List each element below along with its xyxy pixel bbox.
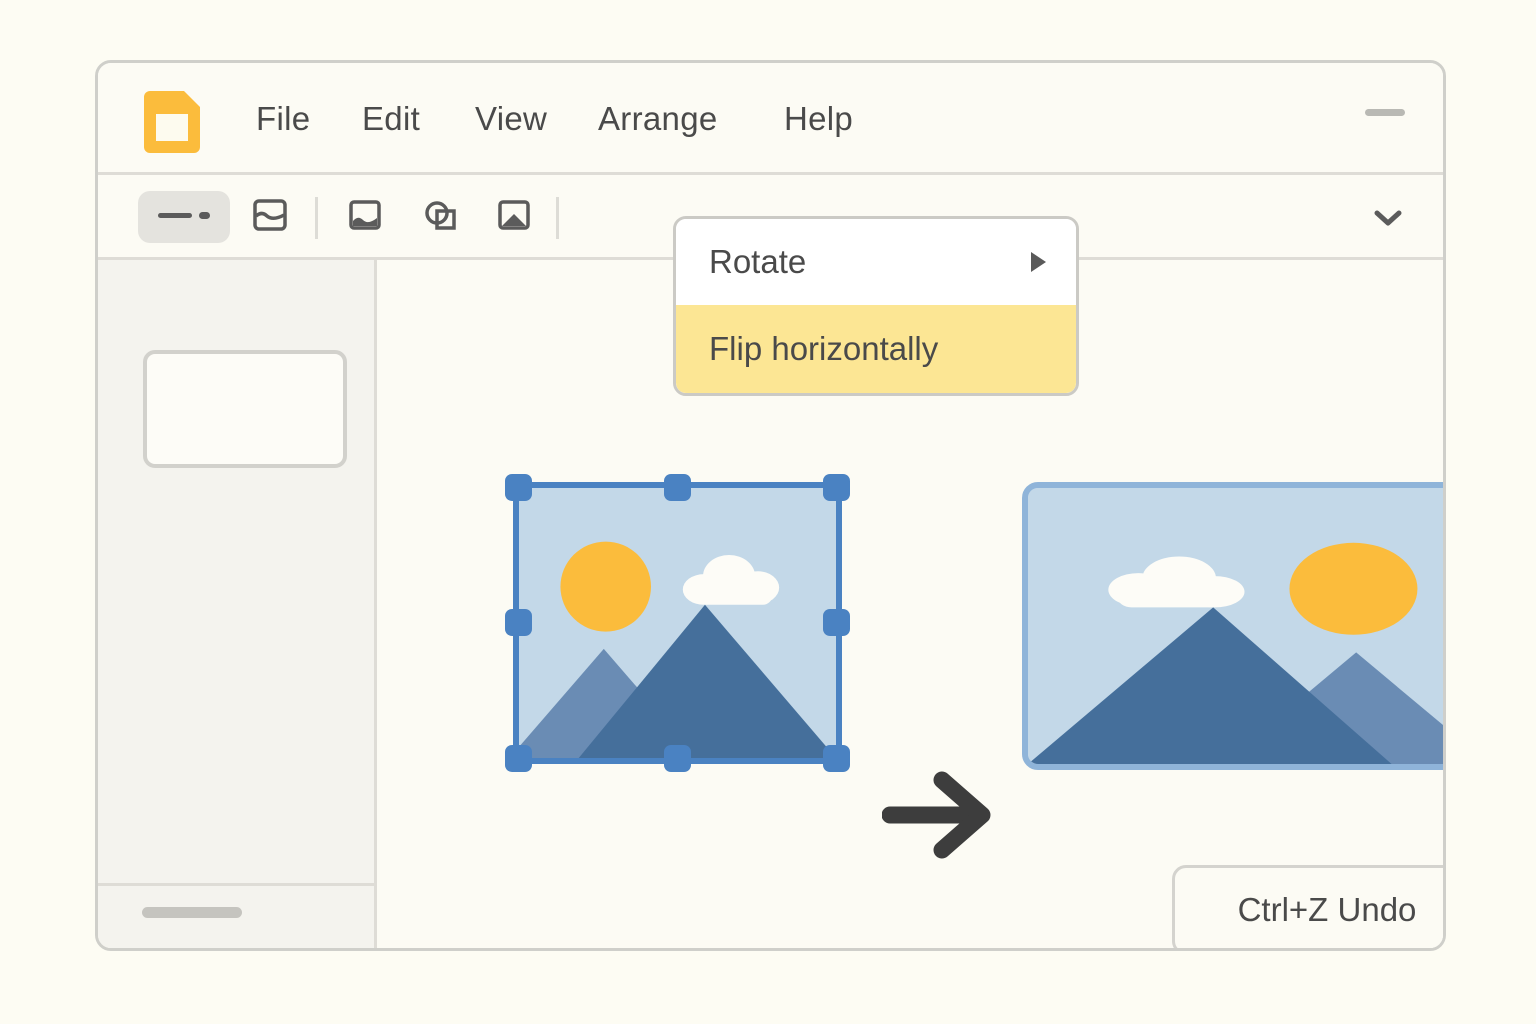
toolbar-divider bbox=[315, 197, 318, 239]
sidebar-footer bbox=[98, 883, 374, 948]
shape-tool-button[interactable] bbox=[414, 191, 466, 243]
chevron-down-icon[interactable] bbox=[1371, 201, 1405, 235]
image-mask-button[interactable] bbox=[488, 191, 540, 243]
menu-help[interactable]: Help bbox=[778, 96, 859, 142]
undo-hint-label: Ctrl+Z Undo bbox=[1238, 891, 1417, 929]
arrange-dropdown-menu: Rotate Flip horizontally bbox=[673, 216, 1079, 396]
slide-sidebar bbox=[98, 260, 377, 948]
caret-right-icon bbox=[1031, 252, 1046, 272]
selection-handle-e[interactable] bbox=[823, 609, 850, 636]
menu-bar: File Edit View Arrange Help bbox=[98, 63, 1443, 175]
line-weight-tool-button[interactable] bbox=[138, 191, 230, 243]
landscape-image-flipped[interactable] bbox=[1022, 482, 1446, 770]
layout-icon bbox=[250, 195, 290, 240]
menu-edit[interactable]: Edit bbox=[356, 96, 426, 142]
selection-handle-s[interactable] bbox=[664, 745, 691, 772]
screenshot-root: File Edit View Arrange Help bbox=[0, 0, 1536, 1024]
minimize-icon[interactable] bbox=[1365, 109, 1405, 116]
selection-handle-n[interactable] bbox=[664, 474, 691, 501]
undo-hint-badge[interactable]: Ctrl+Z Undo bbox=[1172, 865, 1446, 951]
selection-handle-sw[interactable] bbox=[505, 745, 532, 772]
slides-document-icon bbox=[144, 91, 200, 153]
menu-item-flip-horizontally-label: Flip horizontally bbox=[709, 330, 938, 368]
line-weight-icon bbox=[156, 205, 212, 230]
menu-item-rotate[interactable]: Rotate bbox=[676, 219, 1076, 305]
toolbar-divider bbox=[556, 197, 559, 239]
image-icon bbox=[345, 195, 385, 240]
landscape-image-original[interactable] bbox=[513, 482, 842, 764]
resize-handle[interactable] bbox=[142, 907, 242, 918]
slide-1-thumbnail[interactable] bbox=[143, 350, 347, 468]
selection-handle-nw[interactable] bbox=[505, 474, 532, 501]
image-mask-icon bbox=[494, 195, 534, 240]
selection-handle-w[interactable] bbox=[505, 609, 532, 636]
arrow-right-icon bbox=[882, 760, 1002, 870]
menu-item-flip-horizontally[interactable]: Flip horizontally bbox=[676, 305, 1076, 393]
app-window: File Edit View Arrange Help bbox=[95, 60, 1446, 951]
insert-image-button[interactable] bbox=[339, 191, 391, 243]
menu-item-rotate-label: Rotate bbox=[709, 243, 806, 281]
selection-handle-ne[interactable] bbox=[823, 474, 850, 501]
selected-object[interactable] bbox=[505, 474, 850, 772]
selection-handle-se[interactable] bbox=[823, 745, 850, 772]
shape-icon bbox=[420, 195, 460, 240]
menu-file[interactable]: File bbox=[250, 96, 316, 142]
menu-view[interactable]: View bbox=[469, 96, 553, 142]
layout-tool-button[interactable] bbox=[244, 191, 296, 243]
menu-arrange[interactable]: Arrange bbox=[592, 96, 724, 142]
